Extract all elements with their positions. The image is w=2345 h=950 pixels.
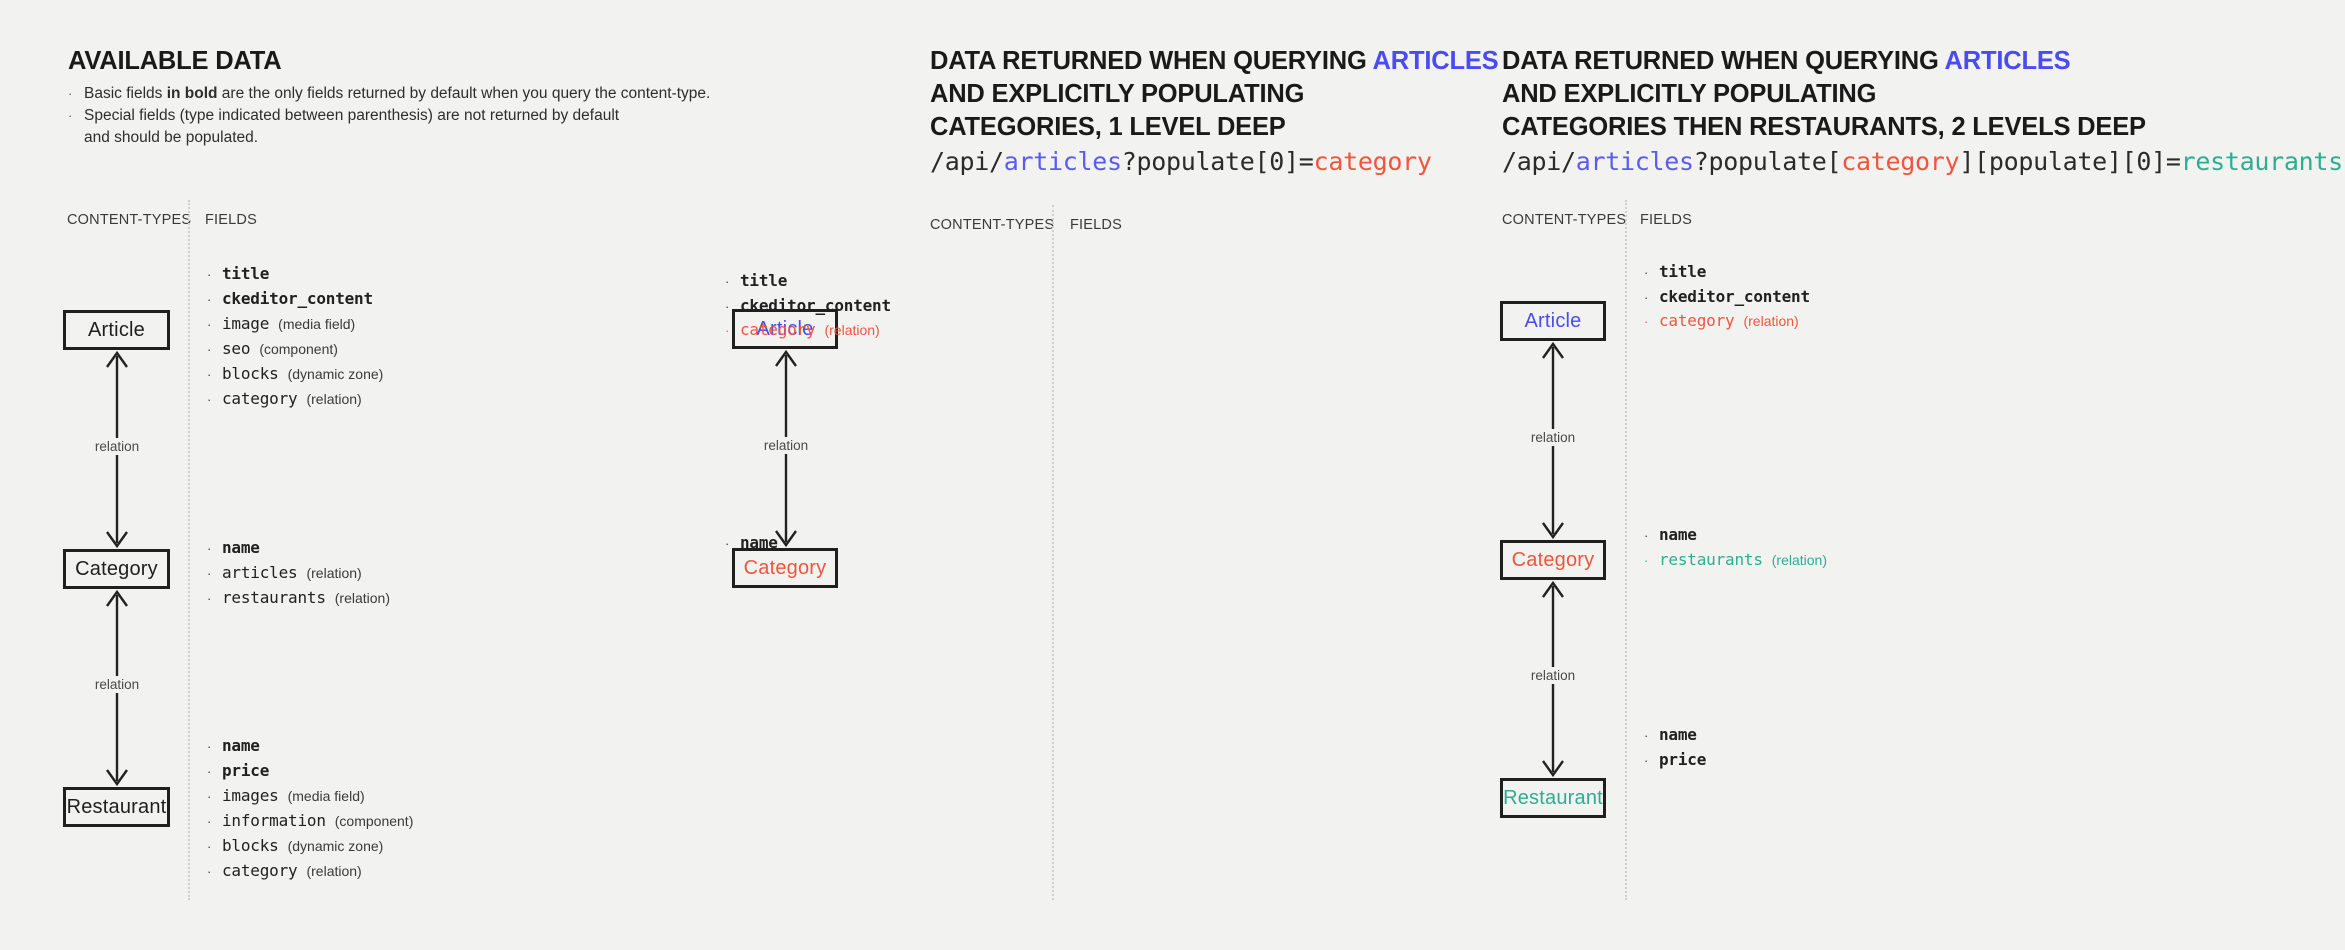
api-segment-populate: ?populate[: [1694, 147, 1842, 176]
field-type: (media field): [288, 788, 365, 805]
field-row: ·name: [1644, 527, 1827, 545]
bullet-icon: ·: [207, 814, 222, 831]
panel3-fieldgroup-restaurant: ·name ·price: [1644, 727, 1715, 776]
bullet-icon: ·: [1644, 528, 1659, 545]
bullet-icon: ·: [1644, 290, 1659, 307]
panel1-intro-list: · Basic fields in bold are the only fiel…: [68, 83, 768, 149]
bullet-icon: ·: [207, 764, 222, 781]
intro-bullet-2: · Special fields (type indicated between…: [68, 105, 768, 126]
bullet-icon: ·: [207, 267, 222, 284]
bullet-icon: ·: [725, 536, 740, 553]
relation-label: relation: [759, 437, 813, 454]
entity-box-article[interactable]: Article: [63, 310, 170, 350]
field-name: title: [222, 266, 269, 283]
field-row: ·title: [207, 266, 383, 284]
intro-2-text: Special fields (type indicated between p…: [84, 105, 768, 126]
bullet-icon: ·: [1644, 265, 1659, 282]
field-name: blocks: [222, 366, 279, 383]
panel2-fieldgroup-article: ·title ·ckeditor_content ·category(relat…: [725, 273, 900, 347]
bullet-icon: ·: [207, 317, 222, 334]
entity-label: Restaurant: [67, 796, 167, 819]
intro-1-pre: Basic fields: [84, 85, 167, 102]
relation-label: relation: [90, 676, 144, 693]
field-name: articles: [222, 565, 297, 582]
field-name: name: [1659, 527, 1697, 544]
field-row: ·category(relation): [1644, 313, 1819, 331]
panel2-heading-plain: DATA RETURNED WHEN QUERYING: [930, 47, 1373, 75]
field-type: (relation): [335, 590, 390, 607]
panel2-heading-line3: CATEGORIES, 1 LEVEL DEEP: [930, 111, 1286, 144]
entity-label: Article: [88, 319, 145, 342]
field-name: image: [222, 316, 269, 333]
field-name: restaurants: [1659, 552, 1763, 569]
entity-label: Category: [75, 558, 158, 581]
field-type: (relation): [1772, 552, 1827, 569]
field-row: ·ckeditor_content: [1644, 289, 1819, 307]
panel3-fieldgroup-category: ·name ·restaurants(relation): [1644, 527, 1827, 576]
panel1-fieldgroup-category: ·name ·articles(relation) ·restaurants(r…: [207, 540, 390, 615]
panel1-heading: AVAILABLE DATA: [68, 45, 281, 78]
panel1-caption-fields: FIELDS: [205, 212, 257, 228]
field-row: ·title: [1644, 264, 1819, 282]
bullet-icon: ·: [68, 105, 84, 126]
field-name: images: [222, 788, 279, 805]
entity-label: Category: [744, 557, 827, 580]
panel2-divider: [1052, 205, 1054, 900]
relation-label: relation: [90, 438, 144, 455]
field-row: ·blocks(dynamic zone): [207, 838, 413, 856]
field-name: category: [222, 391, 297, 408]
bullet-icon: ·: [1644, 553, 1659, 570]
field-name: blocks: [222, 838, 279, 855]
field-name: ckeditor_content: [1659, 289, 1810, 306]
bullet-icon: ·: [207, 566, 222, 583]
field-name: title: [740, 273, 787, 290]
relation-label: relation: [1526, 429, 1580, 446]
panel3-api-path: /api/articles?populate[category][populat…: [1502, 147, 2343, 177]
field-name: name: [222, 738, 260, 755]
bullet-icon: ·: [1644, 753, 1659, 770]
field-name: price: [222, 763, 269, 780]
api-segment-restaurants: restaurants: [2181, 147, 2343, 176]
panel3-fieldgroup-article: ·title ·ckeditor_content ·category(relat…: [1644, 264, 1819, 338]
panel3-caption-content-types: CONTENT-TYPES: [1502, 212, 1626, 228]
field-row: ·ckeditor_content: [725, 298, 900, 316]
api-segment-base: /api/: [930, 147, 1004, 176]
field-row: ·articles(relation): [207, 565, 390, 583]
panel2-api-path: /api/articles?populate[0]=category: [930, 147, 1432, 177]
panel-populate-2-levels: DATA RETURNED WHEN QUERYING ARTICLES AND…: [1500, 0, 2345, 950]
intro-bullet-1: · Basic fields in bold are the only fiel…: [68, 83, 768, 104]
field-row: ·images(media field): [207, 788, 413, 806]
relation-label: relation: [1526, 667, 1580, 684]
bullet-icon: ·: [207, 591, 222, 608]
intro-1-post: are the only fields returned by default …: [218, 85, 711, 102]
field-row: ·information(component): [207, 813, 413, 831]
field-name: name: [740, 535, 778, 552]
field-type: (component): [335, 813, 414, 830]
bullet-icon: ·: [725, 299, 740, 316]
bullet-icon: ·: [207, 839, 222, 856]
panel3-heading-line3: CATEGORIES THEN RESTAURANTS, 2 LEVELS DE…: [1502, 111, 2146, 144]
field-name: ckeditor_content: [222, 291, 373, 308]
panel1-fieldgroup-restaurant: ·name ·price ·images(media field) ·infor…: [207, 738, 413, 888]
field-type: (relation): [306, 863, 361, 880]
field-type: (relation): [306, 565, 361, 582]
panel2-caption-content-types: CONTENT-TYPES: [930, 217, 1054, 233]
intro-1-bold: in bold: [167, 85, 218, 102]
field-name: price: [1659, 752, 1706, 769]
field-row: ·name: [207, 540, 390, 558]
panel1-caption-content-types: CONTENT-TYPES: [67, 212, 191, 228]
api-segment-populate: ?populate[0]=: [1122, 147, 1314, 176]
entity-box-article[interactable]: Article: [1500, 301, 1606, 341]
entity-box-restaurant[interactable]: Restaurant: [1500, 778, 1606, 818]
bullet-icon: ·: [207, 541, 222, 558]
field-type: (relation): [306, 391, 361, 408]
bullet-icon: ·: [1644, 728, 1659, 745]
field-row: ·category(relation): [207, 391, 383, 409]
bullet-icon: ·: [207, 392, 222, 409]
panel2-heading-line1: DATA RETURNED WHEN QUERYING ARTICLES: [930, 45, 1498, 78]
field-row: ·price: [1644, 752, 1715, 770]
panel3-heading-line1: DATA RETURNED WHEN QUERYING ARTICLES: [1502, 45, 2070, 78]
field-row: ·category(relation): [725, 322, 900, 340]
field-type: (component): [259, 341, 338, 358]
field-name: title: [1659, 264, 1706, 281]
api-segment-base: /api/: [1502, 147, 1576, 176]
panel3-heading-plain: DATA RETURNED WHEN QUERYING: [1502, 47, 1945, 75]
api-segment-articles: articles: [1576, 147, 1694, 176]
entity-box-category[interactable]: Category: [63, 549, 170, 589]
field-row: ·seo(component): [207, 341, 383, 359]
entity-box-category[interactable]: Category: [1500, 540, 1606, 580]
bullet-icon: ·: [725, 323, 740, 340]
field-name: ckeditor_content: [740, 298, 891, 315]
bullet-icon: ·: [1644, 314, 1659, 331]
panel1-fieldgroup-article: ·title ·ckeditor_content ·image(media fi…: [207, 266, 383, 416]
api-segment-populate-nested: ][populate][0]=: [1959, 147, 2180, 176]
field-name: restaurants: [222, 590, 326, 607]
panel3-heading-line2: AND EXPLICITLY POPULATING: [1502, 78, 1876, 111]
field-name: category: [222, 863, 297, 880]
panel-populate-1-level: DATA RETURNED WHEN QUERYING ARTICLES AND…: [855, 0, 1500, 950]
field-type: (relation): [1743, 313, 1798, 330]
bullet-icon: ·: [207, 864, 222, 881]
field-name: name: [222, 540, 260, 557]
api-segment-articles: articles: [1004, 147, 1122, 176]
panel1-divider: [188, 200, 190, 900]
field-name: information: [222, 813, 326, 830]
field-row: ·price: [207, 763, 413, 781]
bullet-icon: ·: [207, 739, 222, 756]
field-row: ·name: [1644, 727, 1715, 745]
bullet-icon: ·: [207, 367, 222, 384]
panel2-heading-line2: AND EXPLICITLY POPULATING: [930, 78, 1304, 111]
panel-available-data: AVAILABLE DATA · Basic fields in bold ar…: [0, 0, 855, 950]
intro-3-text: and should be populated.: [84, 127, 768, 148]
field-type: (dynamic zone): [288, 838, 384, 855]
bullet-icon: ·: [207, 789, 222, 806]
panel3-caption-fields: FIELDS: [1640, 212, 1692, 228]
bullet-icon: ·: [207, 292, 222, 309]
panel3-heading-articles: ARTICLES: [1945, 47, 2071, 75]
entity-label: Category: [1512, 549, 1595, 572]
field-row: ·name: [207, 738, 413, 756]
field-type: (media field): [278, 316, 355, 333]
entity-label: Restaurant: [1503, 787, 1603, 810]
field-row: ·restaurants(relation): [207, 590, 390, 608]
panel3-divider: [1625, 200, 1627, 900]
field-row: ·title: [725, 273, 900, 291]
api-segment-category: category: [1841, 147, 1959, 176]
intro-bullet-2-continuation: and should be populated.: [68, 127, 768, 148]
field-name: seo: [222, 341, 250, 358]
field-type: (relation): [824, 322, 879, 339]
bullet-icon: ·: [68, 83, 84, 104]
field-name: name: [1659, 727, 1697, 744]
field-name: category: [740, 322, 815, 339]
panel2-fieldgroup-category: ·name: [725, 535, 787, 560]
field-row: ·category(relation): [207, 863, 413, 881]
bullet-icon: ·: [725, 274, 740, 291]
field-row: ·restaurants(relation): [1644, 552, 1827, 570]
field-name: category: [1659, 313, 1734, 330]
bullet-icon: ·: [207, 342, 222, 359]
field-type: (dynamic zone): [288, 366, 384, 383]
field-row: ·name: [725, 535, 787, 553]
panel2-caption-fields: FIELDS: [1070, 217, 1122, 233]
field-row: ·image(media field): [207, 316, 383, 334]
panel2-heading-articles: ARTICLES: [1373, 47, 1499, 75]
field-row: ·ckeditor_content: [207, 291, 383, 309]
entity-label: Article: [1525, 310, 1582, 333]
api-segment-category: category: [1314, 147, 1432, 176]
entity-box-restaurant[interactable]: Restaurant: [63, 787, 170, 827]
field-row: ·blocks(dynamic zone): [207, 366, 383, 384]
